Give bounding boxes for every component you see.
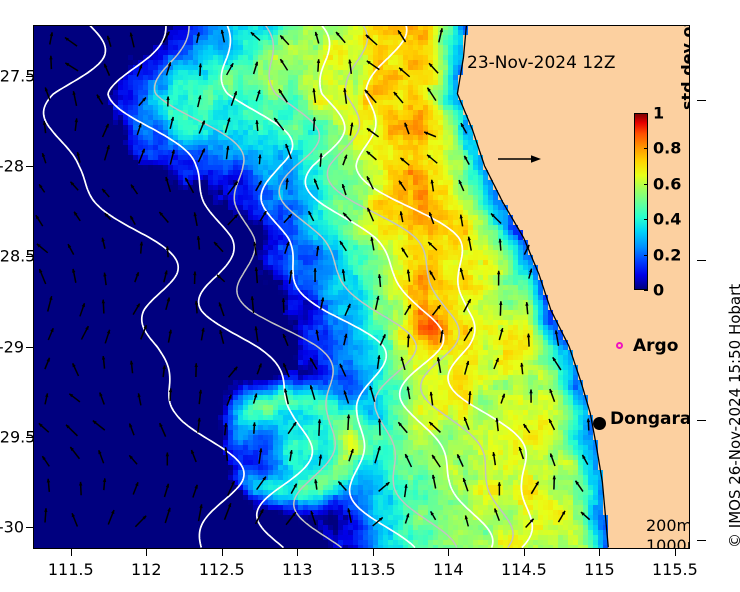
y-axis-tick [26,166,33,167]
colorbar-tick-label: 0.6 [653,174,681,193]
x-axis-tick-label: 115 [584,560,615,579]
copyright-credit: © IMOS 26-Nov-2024 15:50 Hobart [726,218,740,548]
colorbar-tick [644,113,648,114]
right-axis-tick [697,260,706,261]
x-axis-tick [599,549,600,556]
dongara-city-label: Dongara [610,409,690,429]
x-axis-tick [524,549,525,556]
y-axis-tick-label: -28 [0,156,24,175]
colorbar-tick-label: 1 [653,104,664,123]
figure-date-label: 23-Nov-2024 12Z [467,53,616,73]
x-axis-tick [71,549,72,556]
right-axis-tick [697,420,706,421]
x-axis-tick-label: 112.5 [199,560,245,579]
x-axis-tick-label: 113 [282,560,313,579]
colorbar-tick [644,184,648,185]
velocity-scale-arrow-icon [497,153,541,165]
y-axis-tick [26,527,33,528]
bathymetry-key: 200m 1000m [646,516,690,549]
argo-marker-icon [616,342,623,349]
x-axis-tick-label: 115.5 [652,560,698,579]
x-axis-tick [373,549,374,556]
y-axis-tick-label: -30 [0,518,24,537]
x-axis-tick-label: 111.5 [48,560,94,579]
bathymetry-200m-label: 200m [646,516,690,536]
colorbar-tick [644,219,648,220]
y-axis-tick [26,347,33,348]
colorbar-title: std dev of 4hr SST comp [678,25,690,110]
x-axis-tick [297,549,298,556]
x-axis-tick-label: 114.5 [501,560,547,579]
x-axis-tick-label: 113.5 [350,560,396,579]
y-axis-tick-label: -29.5 [0,427,24,446]
y-axis-tick-label: -29 [0,337,24,356]
x-axis-tick [448,549,449,556]
colorbar-tick-label: 0.2 [653,245,681,264]
colorbar-tick [644,290,648,291]
map-plot-area: 23-Nov-2024 12Z NRT00 GSL 23-Nov 06:00Z … [33,25,690,549]
colorbar-tick-label: 0.8 [653,139,681,158]
colorbar-tick-label: 0 [653,281,664,300]
sst-std-dev-map-figure: 23-Nov-2024 12Z NRT00 GSL 23-Nov 06:00Z … [0,0,740,592]
y-axis-tick-label: -28.5 [0,247,24,266]
x-axis-tick [222,549,223,556]
right-axis-tick [697,540,706,541]
sst-std-dev-raster [33,25,690,549]
x-axis-tick-label: 112 [131,560,162,579]
argo-legend-label: Argo [633,336,678,356]
x-axis-tick [146,549,147,556]
y-axis-tick-label: -27.5 [0,66,24,85]
colorbar-tick [644,255,648,256]
x-axis-tick [675,549,676,556]
dongara-marker-icon [593,417,606,430]
colorbar-tick-label: 0.4 [653,210,681,229]
colorbar-gradient [634,113,648,290]
bathymetry-1000m-label: 1000m [646,536,690,549]
colorbar-tick [644,148,648,149]
right-axis-tick [697,100,706,101]
x-axis-tick-label: 114 [433,560,464,579]
